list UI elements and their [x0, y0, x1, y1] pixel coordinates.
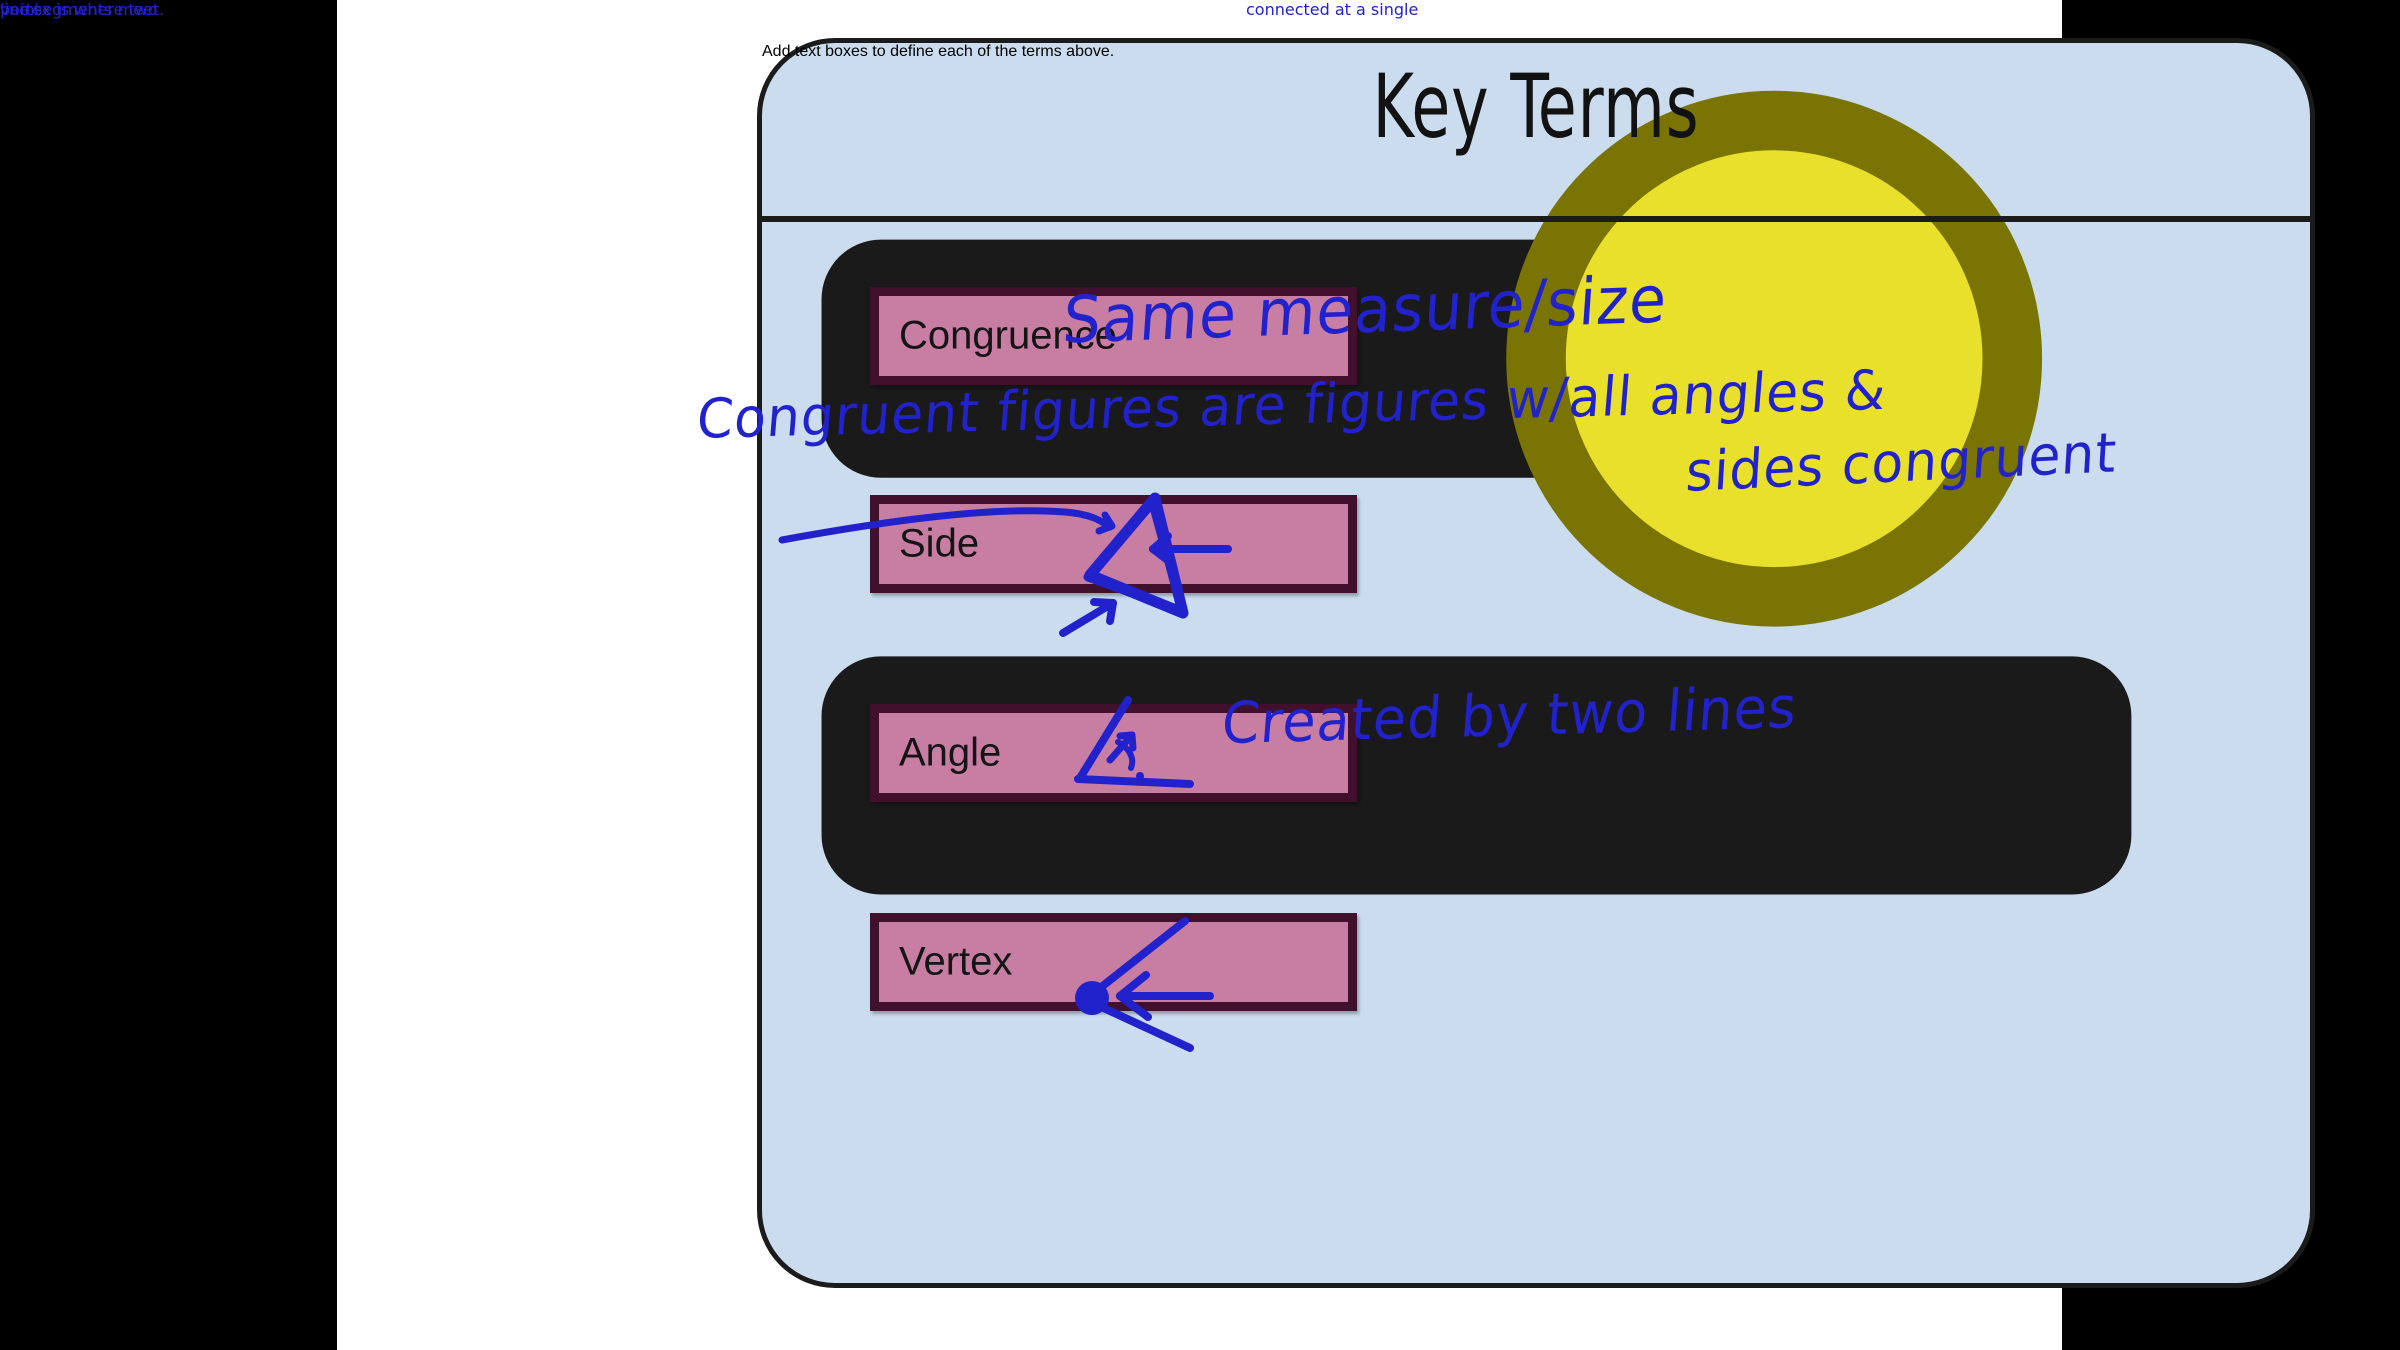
- page-title: Key Terms: [917, 55, 2155, 158]
- handwriting-angle-line3: point: [0, 0, 41, 19]
- handwriting-vertex-line1: vertex is where two: [0, 0, 158, 19]
- term-box-congruence[interactable]: Congruence: [870, 287, 1357, 385]
- term-box-vertex[interactable]: Vertex: [870, 913, 1357, 1011]
- handwriting-vertex-line2: line segments meet.: [0, 0, 164, 19]
- term-box-angle[interactable]: Angle: [870, 704, 1357, 802]
- term-box-side[interactable]: Side: [870, 495, 1357, 593]
- term-label: Congruence: [899, 314, 1117, 359]
- term-label: Vertex: [899, 940, 1012, 985]
- slide-frame: Key Terms Congruence Side Angle Vertex A…: [757, 38, 2315, 1288]
- term-label: Angle: [899, 731, 1001, 776]
- title-divider: [762, 216, 2310, 222]
- page-canvas: Key Terms Congruence Side Angle Vertex A…: [337, 0, 2062, 1350]
- screenshot-stage: Key Terms Congruence Side Angle Vertex A…: [0, 0, 2400, 1350]
- term-label: Side: [899, 522, 979, 567]
